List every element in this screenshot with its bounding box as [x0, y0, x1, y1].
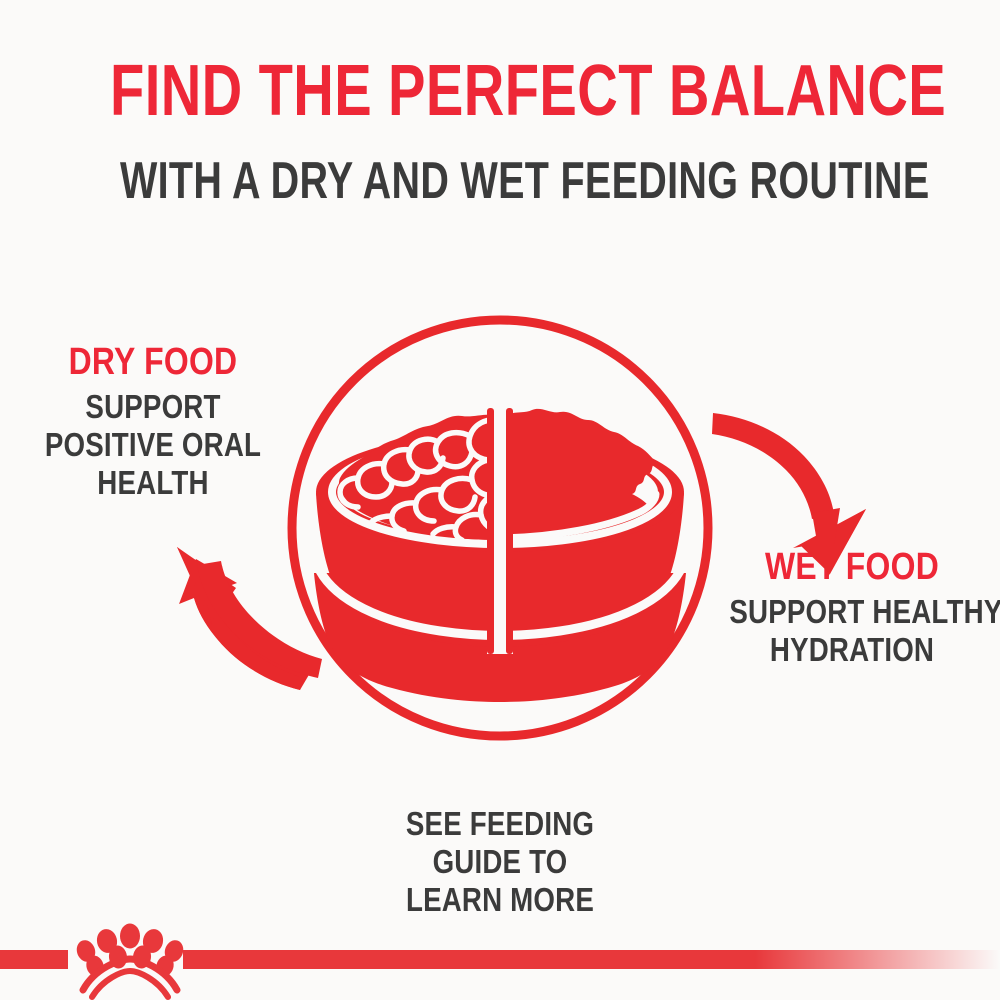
feeding-guide-caption-line-2: GUIDE TO: [80, 843, 920, 881]
bowl-body: [316, 493, 684, 647]
vertical-split-line: [487, 408, 513, 654]
bowl-base: [314, 573, 686, 702]
wet-food-mound: [500, 409, 656, 540]
dry-food-body-line-3: HEALTH: [31, 464, 275, 502]
bowl-circle-outline: [292, 320, 708, 736]
kibble-mass: [339, 415, 500, 540]
wet-food-body: SUPPORT HEALTHY HYDRATION: [729, 593, 974, 669]
dry-food-body: SUPPORT POSITIVE ORAL HEALTH: [31, 388, 275, 502]
dry-food-body-line-2: POSITIVE ORAL: [31, 426, 275, 464]
brand-rule-bar-right: [183, 950, 1000, 969]
dry-food-title: DRY FOOD: [31, 340, 275, 384]
food-bowl-graphic: [314, 408, 686, 702]
wet-food-label-block: WET FOOD SUPPORT HEALTHY HYDRATION: [706, 545, 998, 669]
wet-food-edge-line: [500, 494, 656, 538]
wet-food-body-line-1: SUPPORT HEALTHY: [729, 593, 974, 631]
feeding-guide-caption: SEE FEEDING GUIDE TO LEARN MORE: [0, 805, 1000, 919]
split-gap: [487, 408, 513, 654]
wet-food-body-line-2: HYDRATION: [729, 631, 974, 669]
feeding-guide-caption-line-1: SEE FEEDING: [80, 805, 920, 843]
bowl-rim-outer: [316, 432, 684, 552]
dry-food-label-block: DRY FOOD SUPPORT POSITIVE ORAL HEALTH: [8, 340, 298, 502]
royal-canin-crown-logo: [74, 924, 186, 998]
bowl-interior: [342, 446, 658, 538]
split-line-right: [506, 408, 513, 654]
dry-food-body-line-1: SUPPORT: [31, 388, 275, 426]
curved-arrow-up-left-icon: [177, 547, 322, 690]
page-title: FIND THE PERFECT BALANCE: [110, 52, 890, 130]
poster-root: FIND THE PERFECT BALANCE WITH A DRY AND …: [0, 0, 1000, 1000]
kibble-piece-separators: [340, 420, 500, 540]
wet-food-title: WET FOOD: [729, 545, 974, 589]
bowl-rim-groove: [332, 440, 668, 544]
dry-kibble-group: [339, 415, 500, 540]
split-line-left: [487, 408, 494, 654]
brand-rule-bar-left: [0, 950, 68, 969]
page-subtitle: WITH A DRY AND WET FEEDING ROUTINE: [120, 152, 880, 210]
feeding-guide-caption-line-3: LEARN MORE: [80, 881, 920, 919]
bowl-rim-line-lower: [320, 571, 680, 636]
